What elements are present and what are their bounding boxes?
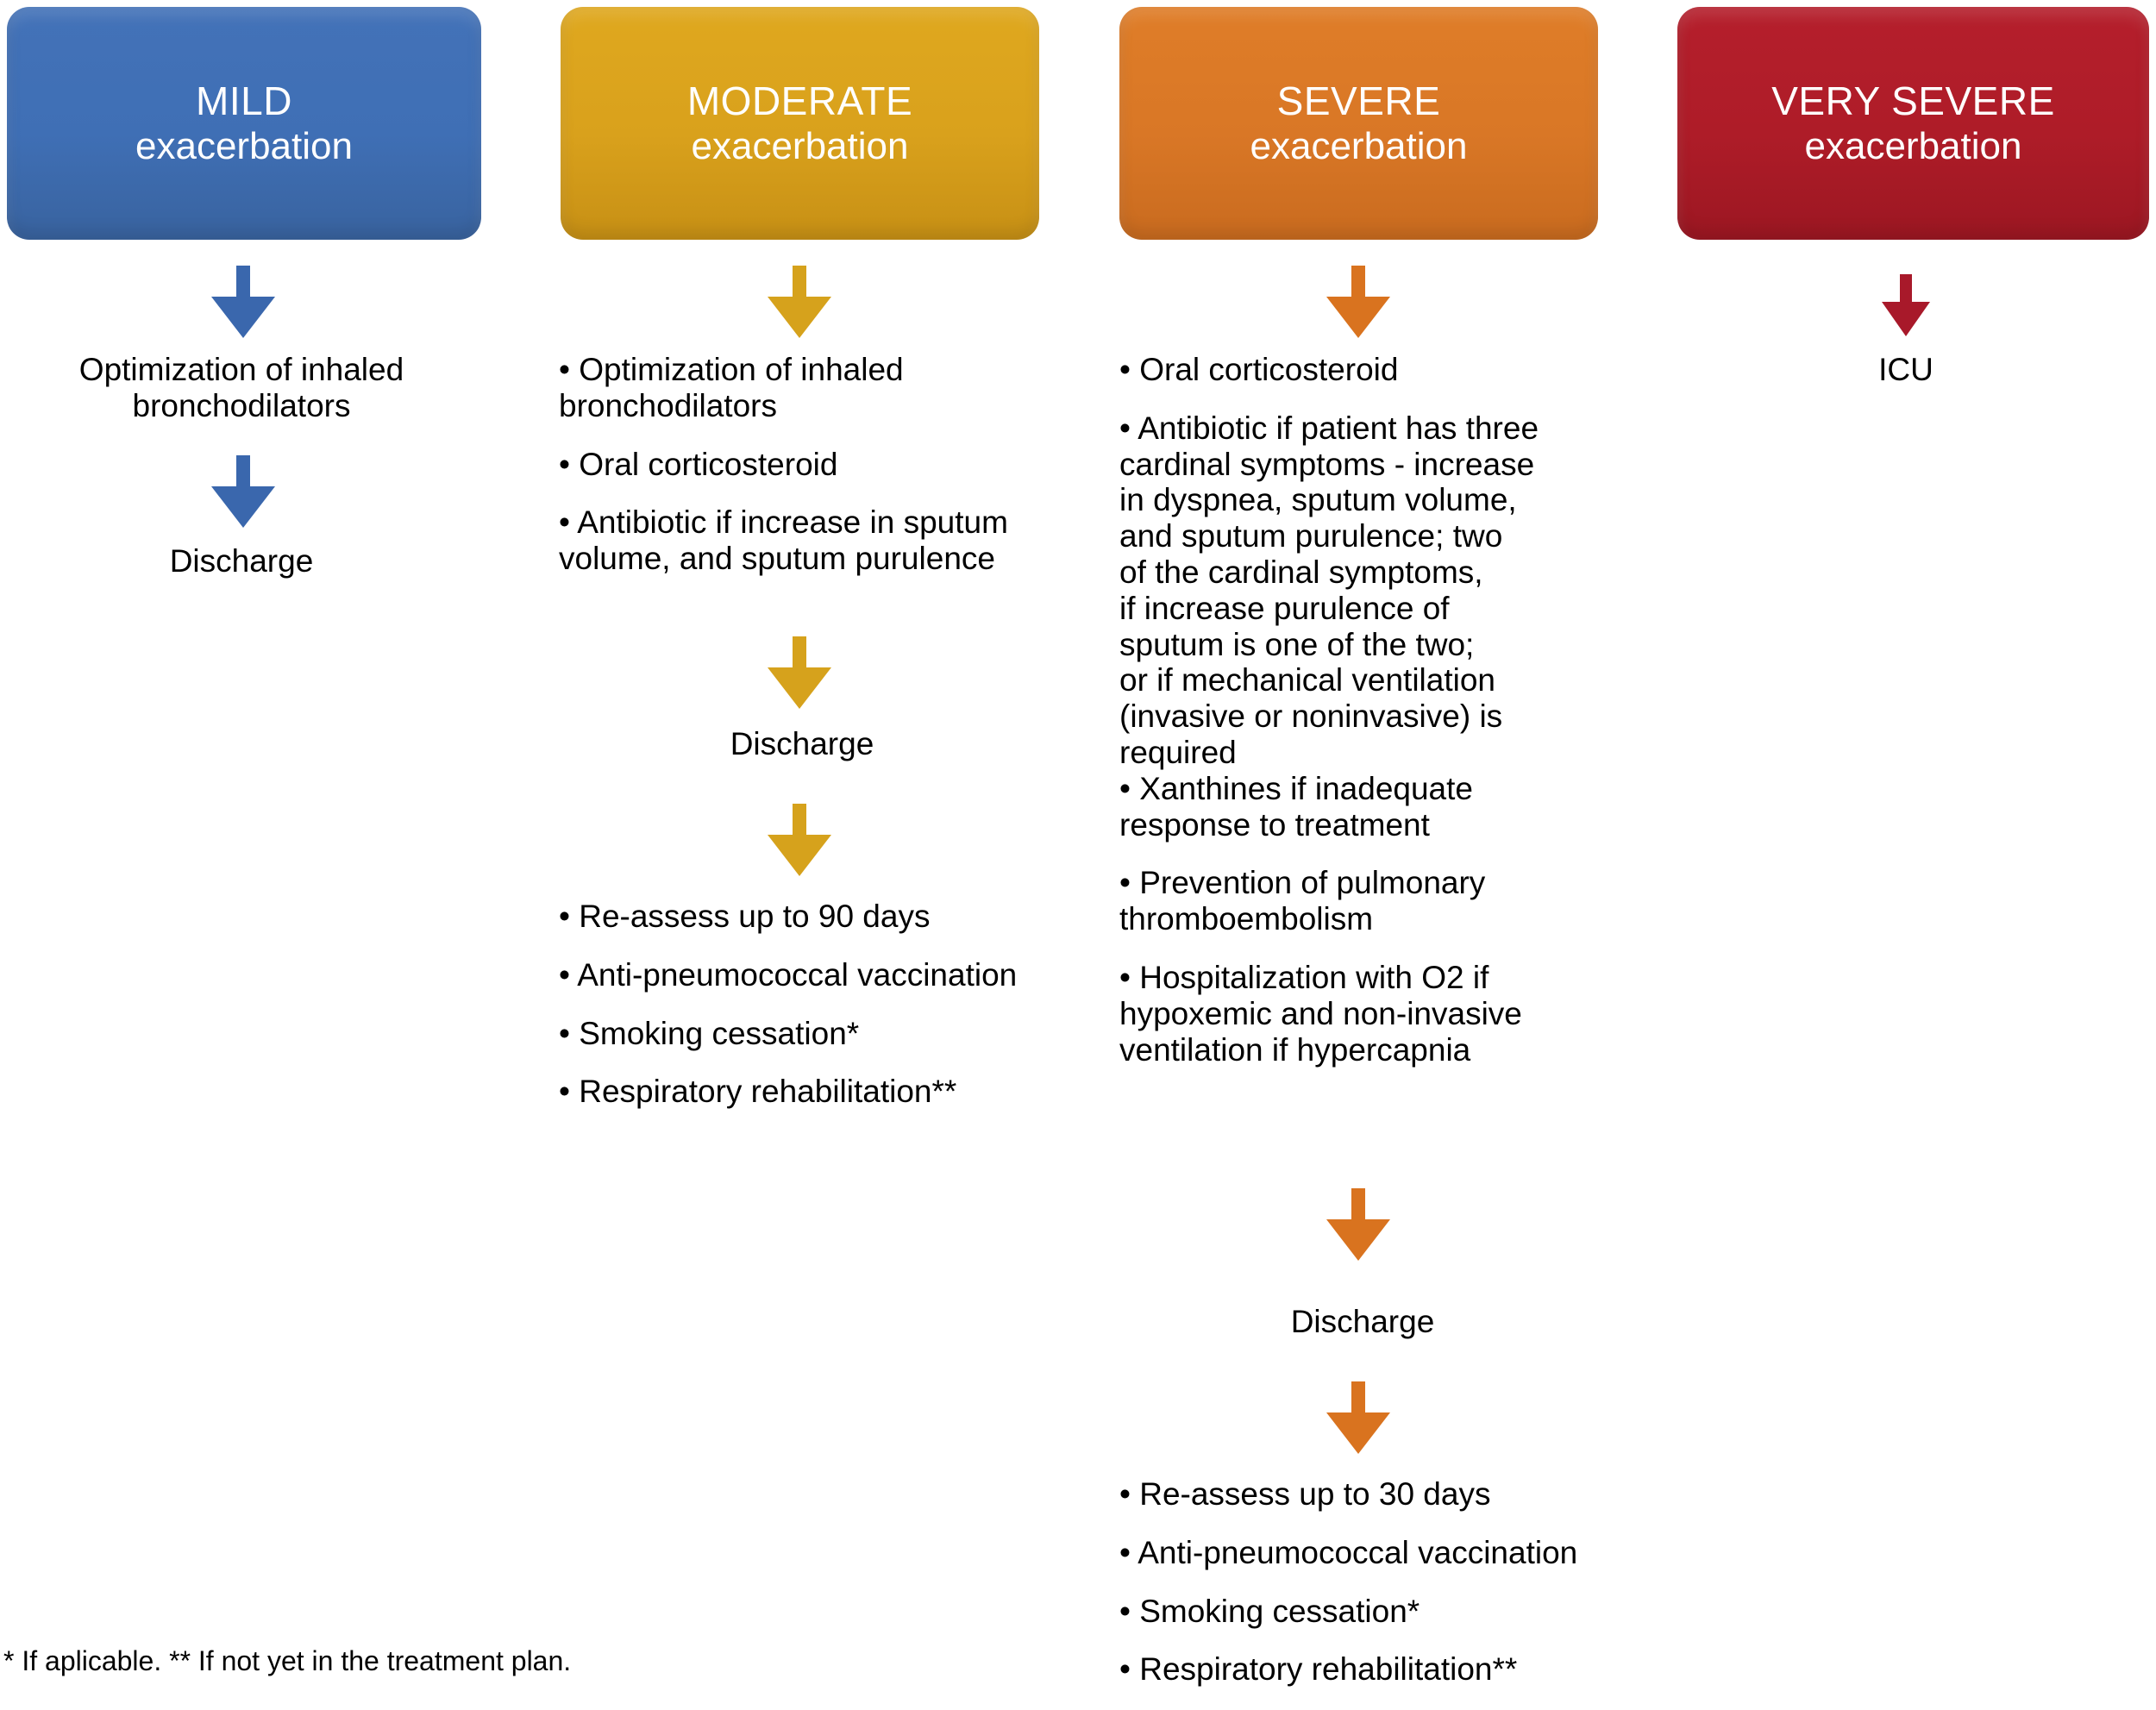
header-title-severe: SEVERE (1277, 78, 1441, 124)
arrow-down-icon-moderate-2 (768, 636, 831, 709)
mild-step-treatment: Optimization of inhaled bronchodilators (17, 352, 466, 424)
header-subtitle-very-severe: exacerbation (1805, 124, 2022, 169)
list-item: • Anti-pneumococcal vaccination (1119, 1535, 1689, 1571)
list-item: • Smoking cessation* (1119, 1594, 1689, 1630)
list-item: • Xanthines if inadequate response to tr… (1119, 771, 1637, 843)
list-item: • Re-assess up to 30 days (1119, 1476, 1689, 1513)
list-item: • Antibiotic if increase in sputum volum… (559, 504, 1094, 577)
arrow-down-icon-mild-1 (211, 266, 275, 338)
severe-followup-list: • Re-assess up to 30 days • Anti-pneumoc… (1119, 1476, 1689, 1710)
list-item: • Respiratory rehabilitation** (1119, 1651, 1689, 1688)
arrow-down-icon-mild-2 (211, 455, 275, 528)
list-item: • Hospitalization with O2 if hypoxemic a… (1119, 960, 1637, 1068)
list-item: • Oral corticosteroid (1119, 352, 1637, 388)
list-item: • Respiratory rehabilitation** (559, 1074, 1128, 1110)
footnote: * If aplicable. ** If not yet in the tre… (3, 1645, 571, 1677)
arrow-down-icon-very-severe-1 (1882, 274, 1930, 336)
list-item: • Smoking cessation* (559, 1016, 1128, 1052)
severe-discharge-label: Discharge (1147, 1304, 1578, 1340)
list-item: • Antibiotic if patient has three cardin… (1119, 410, 1637, 771)
arrow-down-icon-moderate-3 (768, 804, 831, 876)
moderate-discharge-label: Discharge (586, 726, 1018, 762)
moderate-treatment-list: • Optimization of inhaled bronchodilator… (559, 352, 1094, 599)
header-box-severe[interactable]: SEVERE exacerbation (1119, 7, 1598, 240)
list-item: • Optimization of inhaled bronchodilator… (559, 352, 1094, 424)
list-item: • Prevention of pulmonary thromboembolis… (1119, 865, 1637, 937)
header-subtitle-moderate: exacerbation (692, 124, 909, 169)
header-box-very-severe[interactable]: VERY SEVERE exacerbation (1677, 7, 2149, 240)
arrow-down-icon-moderate-1 (768, 266, 831, 338)
flowchart-canvas: MILD exacerbation MODERATE exacerbation … (0, 0, 2156, 1704)
list-item: • Re-assess up to 90 days (559, 899, 1128, 935)
list-item: • Oral corticosteroid (559, 447, 1094, 483)
arrow-down-icon-severe-3 (1326, 1381, 1390, 1454)
list-item: • Anti-pneumococcal vaccination (559, 957, 1128, 993)
arrow-down-icon-severe-1 (1326, 266, 1390, 338)
header-subtitle-mild: exacerbation (135, 124, 353, 169)
very-severe-step-icu: ICU (1690, 352, 2122, 388)
header-box-mild[interactable]: MILD exacerbation (7, 7, 481, 240)
header-title-moderate: MODERATE (687, 78, 912, 124)
moderate-followup-list: • Re-assess up to 90 days • Anti-pneumoc… (559, 899, 1128, 1132)
severe-treatment-list: • Oral corticosteroid • Antibiotic if pa… (1119, 352, 1637, 1090)
header-title-very-severe: VERY SEVERE (1771, 78, 2055, 124)
arrow-down-icon-severe-2 (1326, 1188, 1390, 1261)
mild-step-discharge: Discharge (17, 543, 466, 579)
header-subtitle-severe: exacerbation (1250, 124, 1468, 169)
header-box-moderate[interactable]: MODERATE exacerbation (561, 7, 1039, 240)
header-title-mild: MILD (196, 78, 292, 124)
